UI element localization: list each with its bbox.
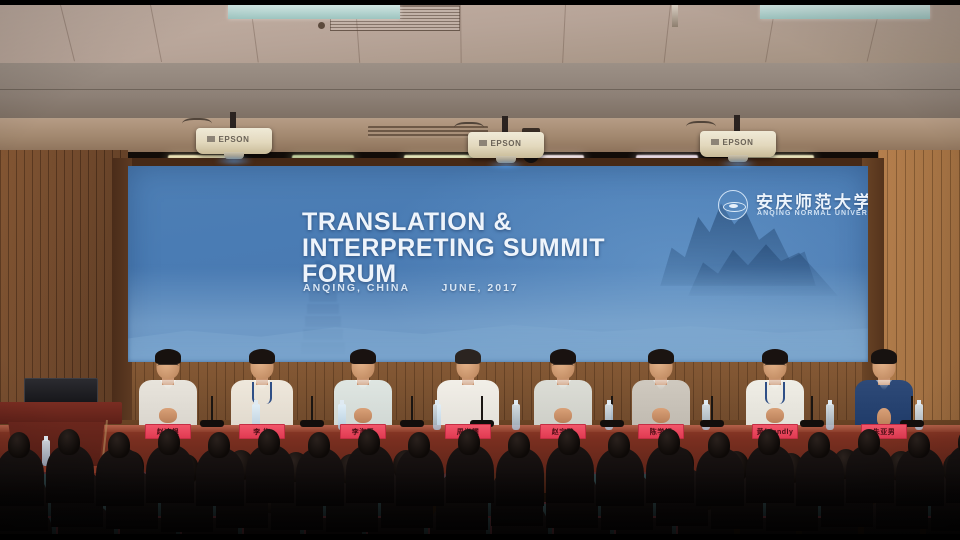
projector-indicator-glow	[214, 157, 254, 165]
conference-hall-photo: EPSONEPSONEPSON TRANSLATION & INTERPRETI…	[0, 0, 960, 540]
audience-head	[608, 432, 630, 458]
audience-head	[558, 429, 580, 455]
university-seal-icon	[718, 190, 748, 220]
projector-brand-label: EPSON	[700, 138, 776, 147]
audience-head	[658, 429, 680, 455]
panelist-hair	[249, 349, 275, 364]
audience-head	[58, 429, 80, 455]
audience-head	[358, 429, 380, 455]
university-emblem: 安庆师范大学 ANQING NORMAL UNIVERSITY	[718, 188, 868, 224]
forum-title-line1: TRANSLATION &	[302, 210, 732, 236]
panelist-hair	[550, 349, 576, 364]
audience-head	[808, 432, 830, 458]
ceiling-skylight-right	[760, 5, 930, 19]
projector-case: EPSON	[196, 128, 272, 154]
audience-head	[8, 432, 30, 458]
panelist-hair	[648, 349, 674, 364]
letterbox-top	[0, 0, 960, 5]
panelist-glasses	[553, 364, 574, 368]
projector-indicator-glow	[718, 160, 758, 168]
forum-title-line2: INTERPRETING SUMMIT	[302, 236, 732, 262]
forum-location-date: ANQING, CHINA JUNE, 2017	[303, 282, 519, 294]
ceiling-vent-dot	[318, 22, 325, 29]
university-name-en: ANQING NORMAL UNIVERSITY	[757, 210, 868, 217]
panelist-glasses	[765, 364, 786, 368]
projector-brand-label: EPSON	[196, 135, 272, 144]
upper-wall-band	[0, 63, 960, 118]
wall-seam	[0, 89, 960, 90]
forum-date: JUNE, 2017	[442, 282, 519, 294]
audience-area	[0, 418, 960, 540]
panelist-glasses	[158, 364, 179, 368]
audience-head	[858, 429, 880, 455]
projector: EPSON	[700, 131, 776, 165]
projector-case: EPSON	[700, 131, 776, 157]
projector: EPSON	[196, 128, 272, 162]
sprinkler-head	[672, 5, 678, 27]
projector-case: EPSON	[468, 132, 544, 158]
projector: EPSON	[468, 132, 544, 166]
audience-head	[208, 432, 230, 458]
projector-brand-label: EPSON	[468, 139, 544, 148]
projection-screen: TRANSLATION & INTERPRETING SUMMIT FORUM …	[128, 166, 868, 362]
ceiling-skylight-left	[228, 5, 400, 19]
panelist-lanyard	[765, 382, 785, 404]
laptop-on-podium	[24, 378, 98, 404]
audience-head	[108, 432, 130, 458]
letterbox-bottom	[0, 534, 960, 540]
projector-indicator-glow	[486, 161, 526, 169]
audience-head	[758, 429, 780, 455]
audience-head	[308, 432, 330, 458]
audience-head	[908, 432, 930, 458]
audience-head	[508, 432, 530, 458]
panelist-hair	[762, 349, 788, 364]
forum-title: TRANSLATION & INTERPRETING SUMMIT FORUM	[302, 210, 732, 287]
audience-head	[458, 429, 480, 455]
audience-head	[708, 432, 730, 458]
audience-head	[258, 429, 280, 455]
forum-location: ANQING, CHINA	[303, 282, 410, 294]
panelist-hair	[155, 349, 181, 364]
audience-head	[158, 429, 180, 455]
panelist-hair	[455, 349, 481, 364]
panelist-hair	[350, 349, 376, 364]
audience-shadow-overlay	[0, 470, 960, 540]
panelist-hair	[871, 349, 897, 364]
audience-head	[408, 432, 430, 458]
